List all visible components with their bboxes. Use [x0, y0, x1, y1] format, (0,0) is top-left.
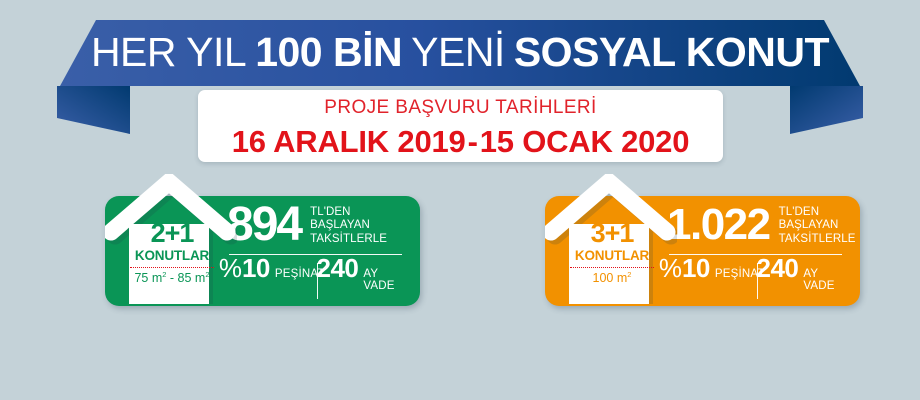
banner-part-4: SOSYAL KONUT: [514, 32, 829, 73]
dotted-divider: [130, 267, 214, 268]
price-note-line-3: TAKSİTLERLE: [310, 233, 387, 245]
date-dash: -: [466, 124, 480, 159]
price-note-line-3: TAKSİTLERLE: [779, 233, 856, 245]
dotted-divider: [570, 267, 654, 268]
house-area: 100 m2: [569, 271, 655, 285]
house-konutlar: KONUTLAR: [129, 249, 215, 263]
card-content: 1.022 TL'DEN BAŞLAYAN TAKSİTLERLE %10 PE…: [667, 196, 846, 306]
house-area-sup-2: 2: [205, 270, 209, 279]
house-area-pre: 75 m: [134, 271, 162, 285]
banner-part-1: HER YIL: [91, 32, 246, 73]
price-note: TL'DEN BAŞLAYAN TAKSİTLERLE: [310, 206, 387, 246]
downpayment-value: 10: [242, 255, 270, 281]
vertical-divider: [317, 263, 318, 299]
term-value: 240: [757, 255, 799, 281]
banner-title: HER YIL 100 BİN YENİ SOSYAL KONUT: [0, 20, 920, 85]
term-label: AY VADE: [363, 268, 406, 292]
term-label: AY VADE: [803, 268, 846, 292]
date-end: 15 OCAK 2020: [480, 124, 690, 159]
price-value: 894: [227, 201, 301, 249]
house-area-mid: - 85 m: [166, 271, 205, 285]
house-area: 75 m2 - 85 m2: [129, 271, 215, 285]
term-value: 240: [317, 255, 359, 281]
banner-part-2: 100 BİN: [255, 32, 402, 73]
price-row: 1.022 TL'DEN BAŞLAYAN TAKSİTLERLE: [667, 196, 846, 254]
house-area-sup-1: 2: [627, 270, 631, 279]
price-row: 894 TL'DEN BAŞLAYAN TAKSİTLERLE: [227, 196, 406, 254]
vertical-divider: [757, 263, 758, 299]
application-dates-panel: PROJE BAŞVURU TARİHLERİ 16 ARALIK 2019-1…: [198, 90, 723, 162]
downpayment-value: 10: [682, 255, 710, 281]
term-cell: 240 AY VADE: [317, 255, 407, 306]
house-konutlar: KONUTLAR: [569, 249, 655, 263]
downpayment-cell: %10 PEŞİNAT: [227, 255, 317, 306]
card-content: 894 TL'DEN BAŞLAYAN TAKSİTLERLE %10 PEŞİ…: [227, 196, 406, 306]
price-note: TL'DEN BAŞLAYAN TAKSİTLERLE: [779, 206, 856, 246]
infographic-banner: HER YIL 100 BİN YENİ SOSYAL KONUT PROJE …: [0, 0, 920, 400]
house-icon: 3+1 KONUTLAR 100 m2: [545, 174, 677, 306]
dates-range: 16 ARALIK 2019-15 OCAK 2020: [232, 126, 690, 157]
banner-part-3: YENİ: [411, 32, 505, 73]
offer-card-2plus1[interactable]: 894 TL'DEN BAŞLAYAN TAKSİTLERLE %10 PEŞİ…: [105, 196, 420, 306]
term-cell: 240 AY VADE: [757, 255, 847, 306]
dates-label: PROJE BAŞVURU TARİHLERİ: [324, 98, 596, 117]
terms-row: %10 PEŞİNAT 240 AY VADE: [667, 255, 846, 306]
price-note-line-1: TL'DEN: [779, 206, 820, 218]
terms-row: %10 PEŞİNAT 240 AY VADE: [227, 255, 406, 306]
price-value: 1.022: [667, 203, 770, 247]
price-note-line-1: TL'DEN: [310, 206, 351, 218]
house-type: 2+1: [129, 220, 215, 247]
house-icon: 2+1 KONUTLAR 75 m2 - 85 m2: [105, 174, 237, 306]
house-label: 2+1 KONUTLAR 75 m2 - 85 m2: [129, 220, 215, 284]
house-label: 3+1 KONUTLAR 100 m2: [569, 220, 655, 284]
house-area-pre: 100 m: [593, 271, 628, 285]
house-type: 3+1: [569, 220, 655, 247]
price-note-line-2: BAŞLAYAN: [779, 219, 839, 231]
price-note-line-2: BAŞLAYAN: [310, 219, 370, 231]
offer-card-3plus1[interactable]: 1.022 TL'DEN BAŞLAYAN TAKSİTLERLE %10 PE…: [545, 196, 860, 306]
downpayment-cell: %10 PEŞİNAT: [667, 255, 757, 306]
date-start: 16 ARALIK 2019: [232, 124, 466, 159]
